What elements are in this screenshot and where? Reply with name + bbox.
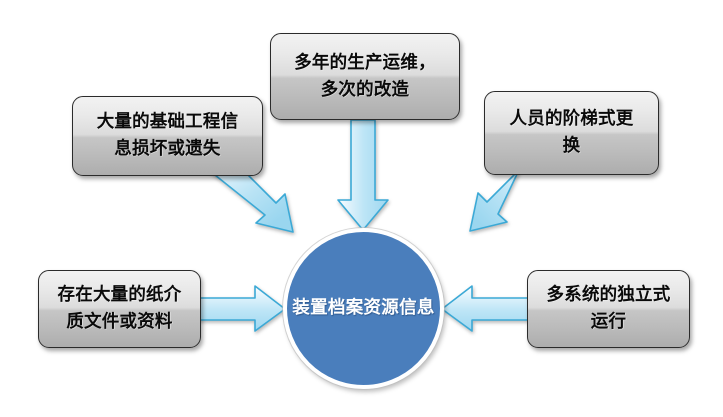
node-box-upper-right[interactable]: 人员的阶梯式更 换: [484, 91, 659, 175]
diagram-canvas: 装置档案资源信息 多年的生产运维， 多次的改造 大量的基础工程信 息损坏或遗失 …: [0, 0, 723, 417]
node-label-lower-right: 多系统的独立式 运行: [541, 282, 677, 335]
node-box-lower-right[interactable]: 多系统的独立式 运行: [527, 270, 690, 348]
node-label-lower-left: 存在大量的纸介 质文件或资料: [52, 282, 188, 335]
node-label-upper-right: 人员的阶梯式更 换: [504, 106, 640, 159]
node-label-top: 多年的生产运维， 多次的改造: [288, 50, 442, 103]
node-box-top[interactable]: 多年的生产运维， 多次的改造: [270, 33, 460, 120]
arrow-right-horizontal: [442, 286, 528, 331]
center-node-label: 装置档案资源信息: [292, 294, 434, 322]
node-label-upper-left: 大量的基础工程信 息损坏或遗失: [91, 109, 245, 162]
center-node-circle[interactable]: 装置档案资源信息: [283, 228, 444, 389]
node-box-upper-left[interactable]: 大量的基础工程信 息损坏或遗失: [72, 96, 263, 176]
arrow-left-horizontal: [198, 286, 285, 331]
node-box-lower-left[interactable]: 存在大量的纸介 质文件或资料: [38, 270, 201, 348]
arrow-top-down: [338, 120, 388, 230]
